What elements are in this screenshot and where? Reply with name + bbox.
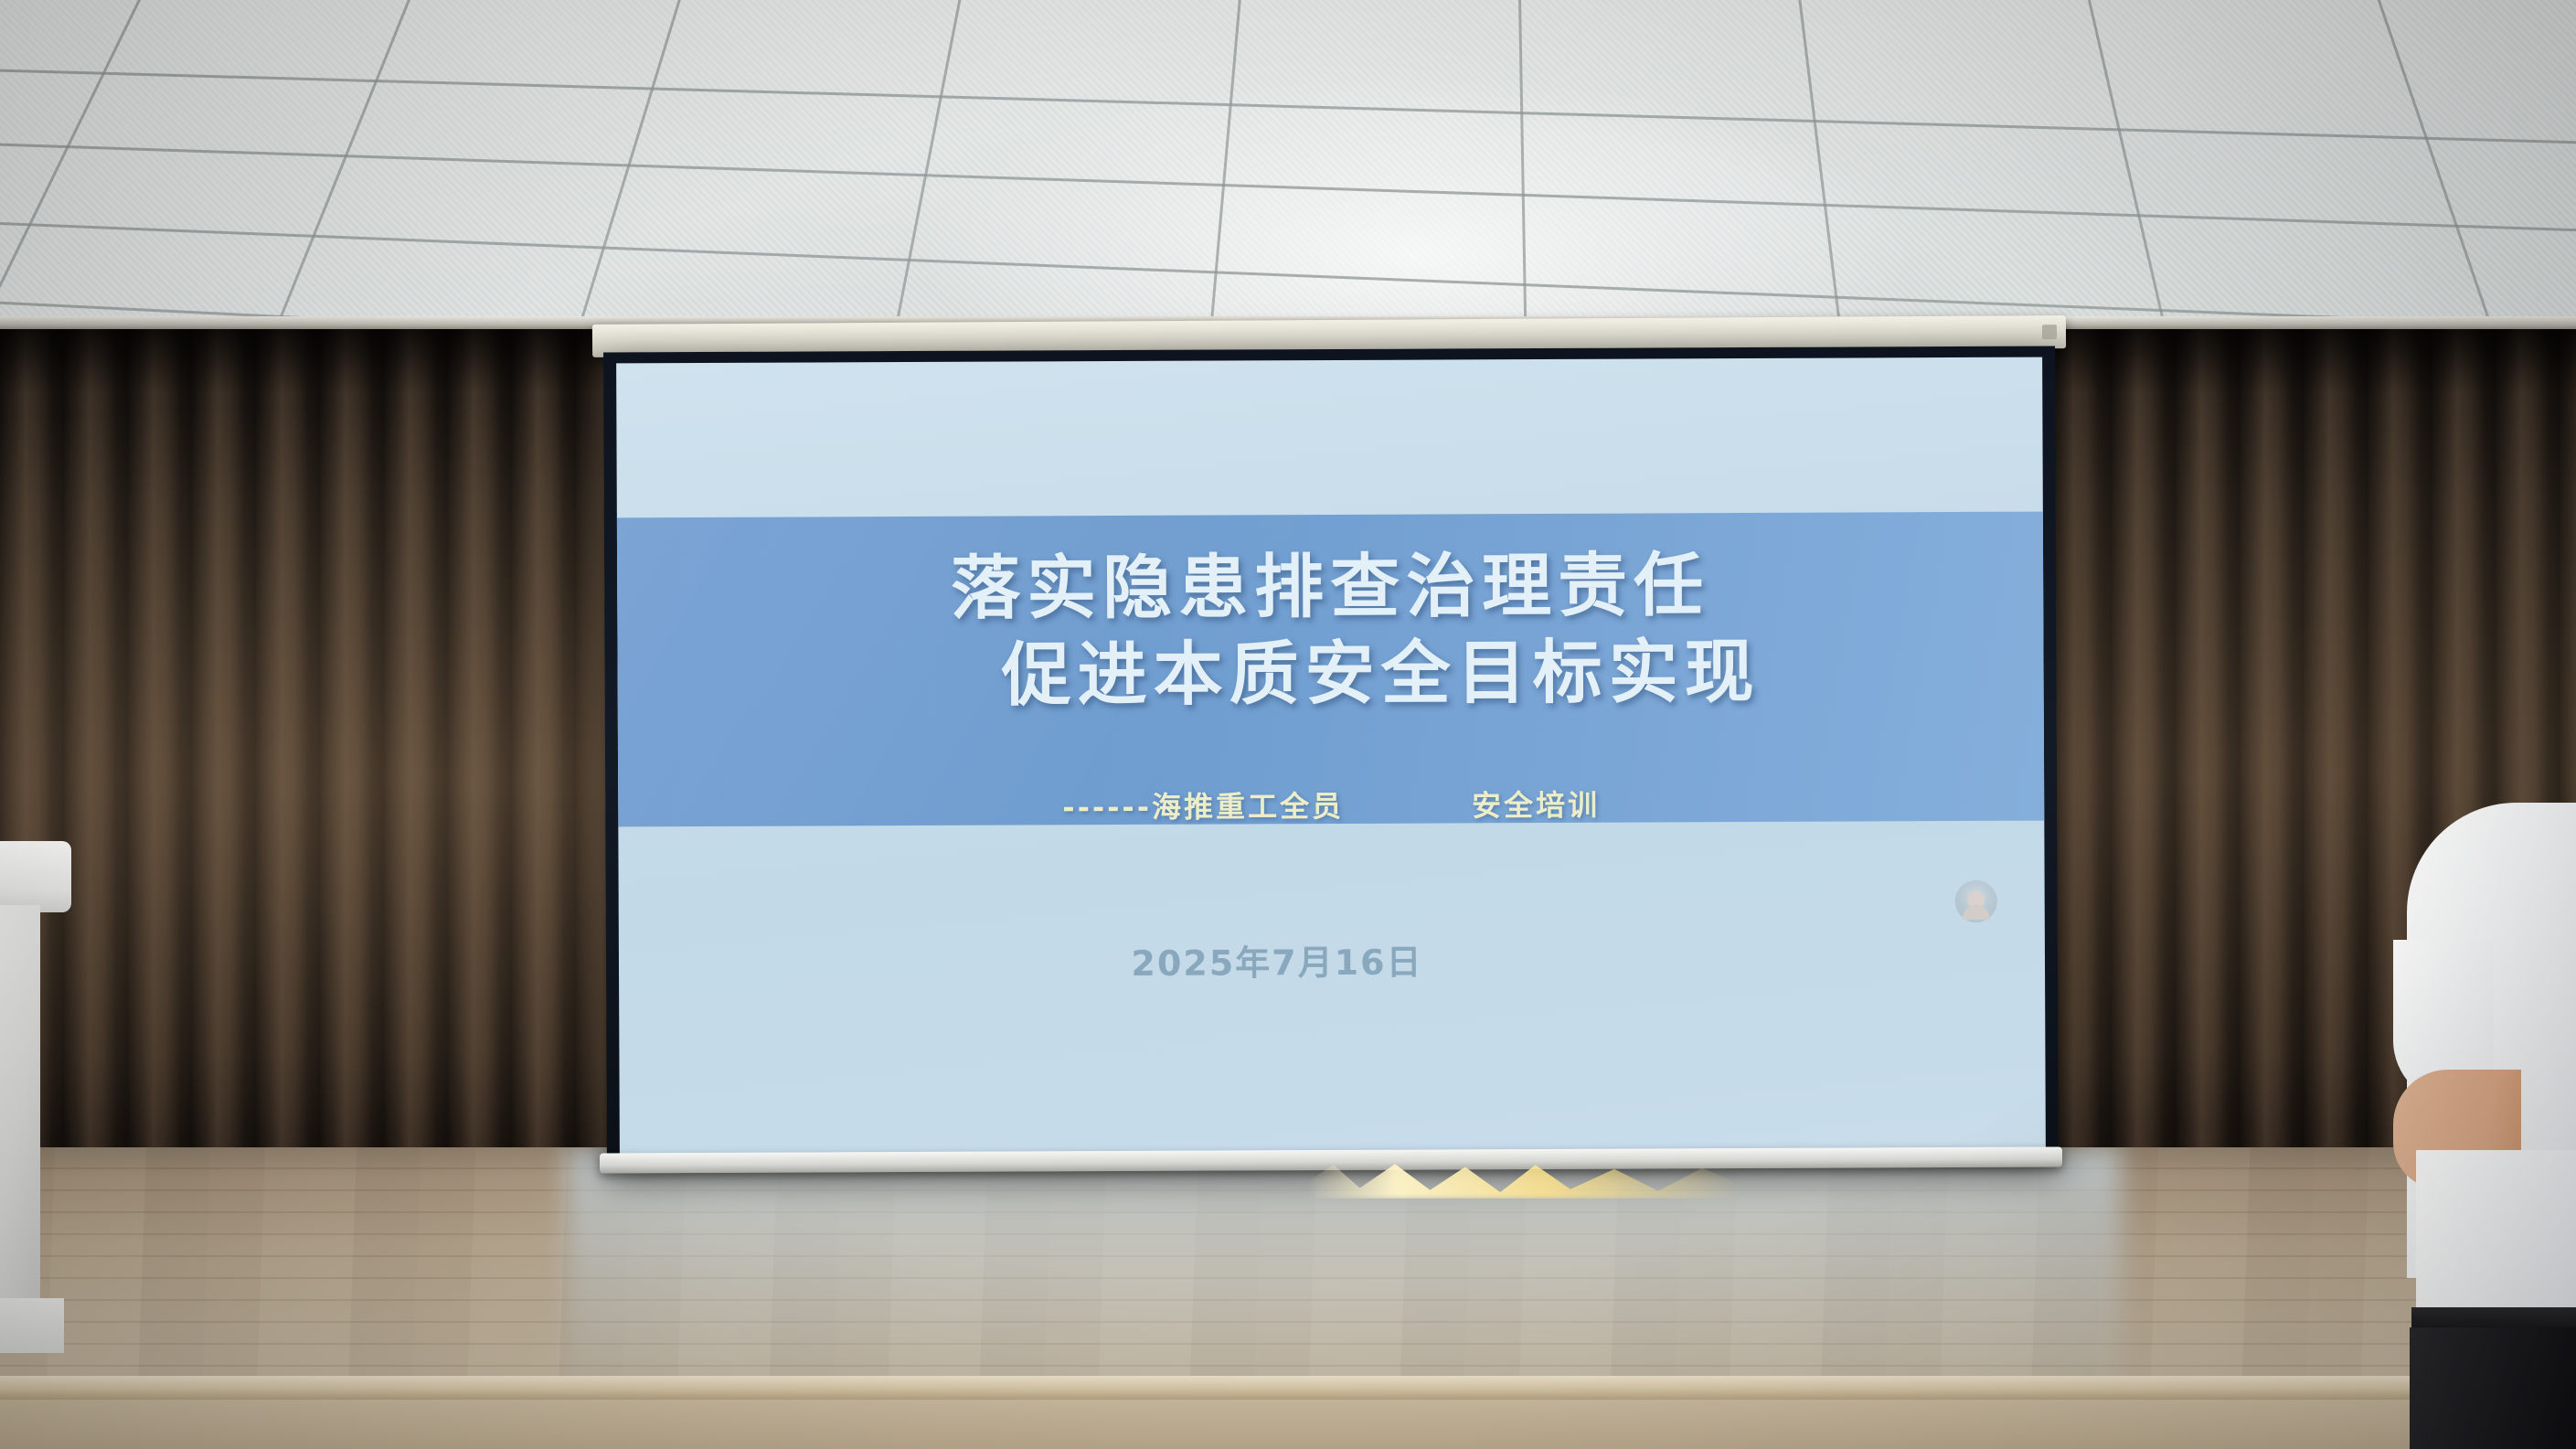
stage-edge-strip — [0, 1376, 2576, 1400]
person-dark-trousers — [2410, 1327, 2576, 1449]
stage-front-face — [0, 1400, 2576, 1449]
standing-attendee — [2393, 803, 2576, 1449]
conference-room-scene: 落实隐患排查治理责任 促进本质安全目标实现 ------海推重工全员 安全培训 … — [0, 0, 2576, 1449]
slide-subtitle-left: ------海推重工全员 — [1062, 783, 1344, 826]
lectern-top-surface — [0, 841, 71, 912]
slide-date: 2025年7月16日 — [619, 931, 2045, 987]
slide-subtitle-row: ------海推重工全员 安全培训 — [618, 781, 2044, 829]
suspended-tile-ceiling — [0, 0, 2576, 366]
presentation-slide: 落实隐患排查治理责任 促进本质安全目标实现 ------海推重工全员 安全培训 … — [616, 357, 2046, 1156]
white-lectern[interactable] — [0, 841, 73, 1353]
pull-down-projection-screen[interactable]: 落实隐患排查治理责任 促进本质安全目标实现 ------海推重工全员 安全培训 … — [603, 346, 2059, 1167]
roller-end-cap-icon — [2042, 325, 2057, 339]
avatar-body-shape — [1963, 904, 1990, 919]
lectern-column — [0, 905, 40, 1307]
presenter-avatar-icon — [1955, 879, 1997, 922]
slide-subtitle-right: 安全培训 — [1472, 783, 1600, 826]
slide-title-line-2: 促进本质安全目标实现 — [617, 614, 2043, 721]
lectern-base — [0, 1298, 64, 1353]
person-shirt-lower — [2416, 1150, 2576, 1315]
